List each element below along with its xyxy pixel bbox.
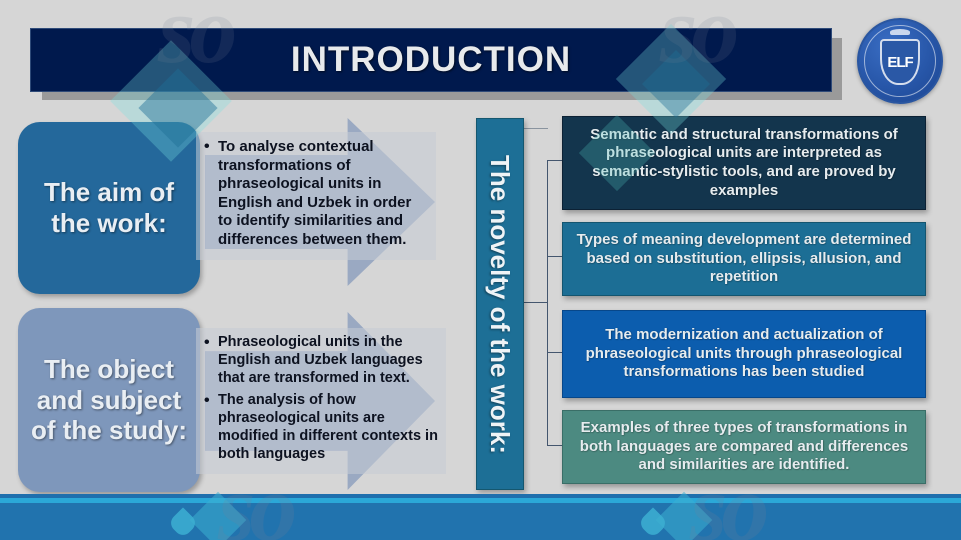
aim-bullet-panel: To analyse contextual transformations of…: [196, 132, 436, 260]
novelty-item-1[interactable]: Semantic and structural transformations …: [562, 116, 926, 210]
aim-label-box[interactable]: The aim of the work:: [18, 122, 200, 294]
seal-letters: ELF: [887, 55, 912, 70]
university-seal-icon: ELF: [857, 18, 943, 104]
novelty-label-bar[interactable]: The novelty of the work:: [476, 118, 524, 490]
novelty-item-1-text: Semantic and structural transformations …: [563, 120, 925, 207]
list-item: To analyse contextual transformations of…: [218, 138, 428, 250]
page-title: INTRODUCTION: [291, 40, 571, 80]
connector-top-rule: [522, 128, 548, 129]
novelty-item-2-text: Types of meaning development are determi…: [563, 225, 925, 293]
connector-spine: [547, 160, 548, 445]
list-item: Phraseological units in the English and …: [218, 334, 438, 388]
graduation-cap-icon: [890, 29, 910, 35]
connector-branch-1: [547, 160, 563, 161]
connector-trunk: [522, 302, 548, 303]
list-item: The analysis of how phraseological units…: [218, 392, 438, 464]
connector-branch-2: [547, 256, 563, 257]
novelty-item-4[interactable]: Examples of three types of transformatio…: [562, 410, 926, 484]
connector-branch-3: [547, 352, 563, 353]
footer-band: [0, 503, 961, 540]
object-label: The object and subject of the study:: [18, 354, 200, 446]
connector-branch-4: [547, 445, 563, 446]
aim-bullet-list: To analyse contextual transformations of…: [200, 138, 428, 250]
object-bullet-list: Phraseological units in the English and …: [200, 334, 438, 464]
presentation-slide: INTRODUCTION ELF The aim of the work: Th…: [0, 0, 961, 540]
novelty-item-3[interactable]: The modernization and actualization of p…: [562, 310, 926, 398]
novelty-item-4-text: Examples of three types of transformatio…: [563, 413, 925, 481]
novelty-label: The novelty of the work:: [485, 154, 516, 453]
aim-label: The aim of the work:: [18, 177, 200, 238]
object-label-box[interactable]: The object and subject of the study:: [18, 308, 200, 492]
shield-icon: ELF: [880, 39, 920, 85]
slide-title-bar: INTRODUCTION: [30, 28, 832, 92]
novelty-item-2[interactable]: Types of meaning development are determi…: [562, 222, 926, 296]
novelty-item-3-text: The modernization and actualization of p…: [563, 320, 925, 388]
object-bullet-panel: Phraseological units in the English and …: [196, 328, 446, 474]
